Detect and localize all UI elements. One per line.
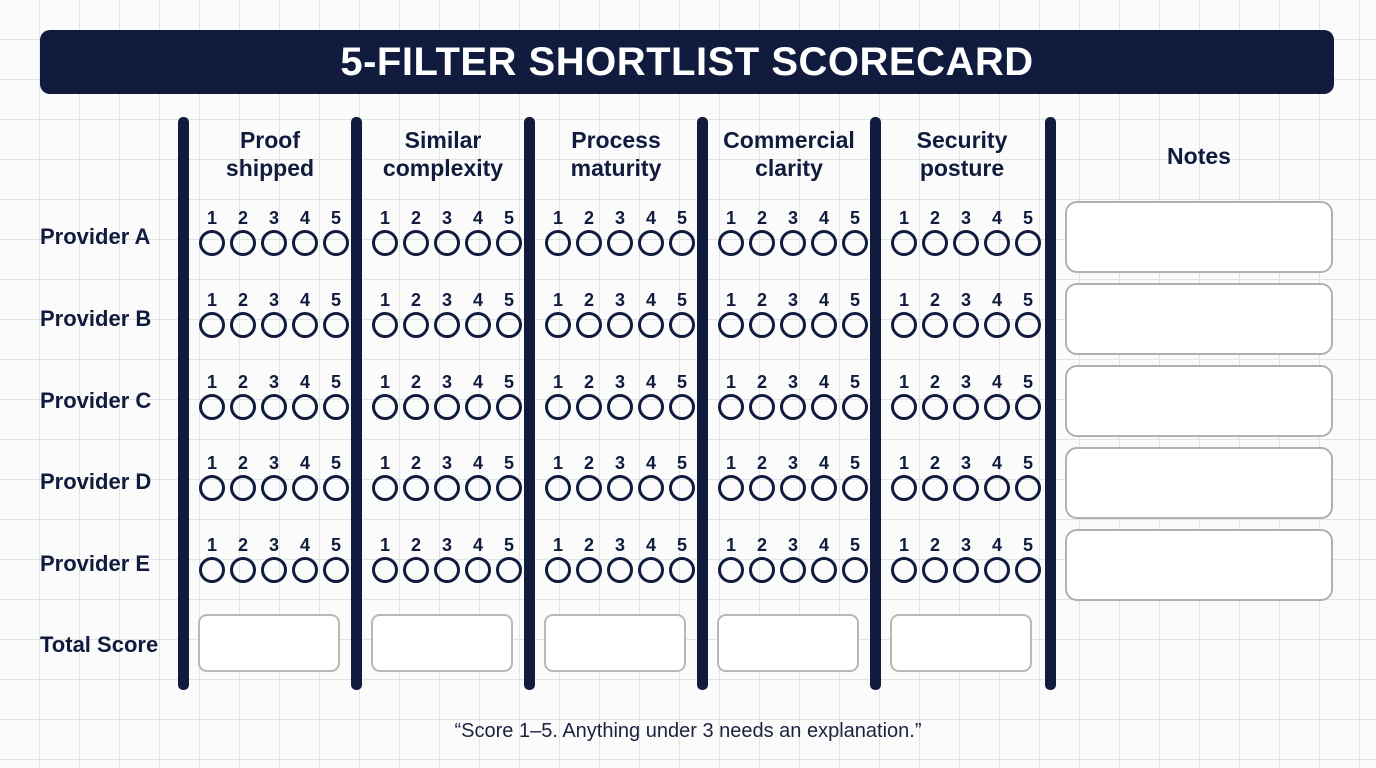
score-bubble-provider-a-proof-shipped-2[interactable] [230,230,256,256]
footer-caption: “Score 1–5. Anything under 3 needs an ex… [0,720,1376,743]
score-bubble-provider-e-similar-complexity-1[interactable] [372,557,398,583]
score-bubble-provider-c-commercial-clarity-1[interactable] [718,394,744,420]
scale-number-5: 5 [323,290,349,310]
scale-number-2: 2 [922,453,948,473]
score-scale-provider-b-proof-shipped: 12345 [199,290,349,340]
scale-number-3: 3 [953,535,979,555]
score-bubble-provider-e-process-maturity-5[interactable] [669,557,695,583]
score-bubble-provider-d-proof-shipped-2[interactable] [230,475,256,501]
score-bubble-provider-d-proof-shipped-1[interactable] [199,475,225,501]
scale-number-1: 1 [545,453,571,473]
scale-number-4: 4 [292,535,318,555]
score-bubble-provider-a-similar-complexity-4[interactable] [465,230,491,256]
scale-bubbles [718,312,868,338]
score-bubble-provider-c-security-posture-1[interactable] [891,394,917,420]
score-bubble-provider-b-security-posture-5[interactable] [1015,312,1041,338]
scale-bubbles [718,230,868,256]
score-bubble-provider-d-proof-shipped-3[interactable] [261,475,287,501]
scale-number-5: 5 [842,453,868,473]
scale-numbers: 12345 [372,453,522,473]
scale-number-3: 3 [434,535,460,555]
score-bubble-provider-c-process-maturity-3[interactable] [607,394,633,420]
score-bubble-provider-b-similar-complexity-1[interactable] [372,312,398,338]
scale-number-4: 4 [984,535,1010,555]
score-bubble-provider-a-security-posture-3[interactable] [953,230,979,256]
score-bubble-provider-a-security-posture-4[interactable] [984,230,1010,256]
score-bubble-provider-b-commercial-clarity-4[interactable] [811,312,837,338]
score-scale-provider-a-proof-shipped: 12345 [199,208,349,258]
score-bubble-provider-d-similar-complexity-3[interactable] [434,475,460,501]
scale-number-1: 1 [199,290,225,310]
score-scale-provider-a-process-maturity: 12345 [545,208,695,258]
scale-number-5: 5 [842,372,868,392]
scale-number-1: 1 [199,208,225,228]
total-score-input-security-posture[interactable] [890,614,1032,672]
scale-numbers: 12345 [199,290,349,310]
score-bubble-provider-c-similar-complexity-2[interactable] [403,394,429,420]
score-bubble-provider-d-commercial-clarity-3[interactable] [780,475,806,501]
score-bubble-provider-c-process-maturity-2[interactable] [576,394,602,420]
score-bubble-provider-b-commercial-clarity-5[interactable] [842,312,868,338]
score-bubble-provider-c-process-maturity-5[interactable] [669,394,695,420]
scale-number-5: 5 [842,208,868,228]
column-header-notes: Notes [1115,142,1283,170]
scale-number-1: 1 [891,290,917,310]
score-bubble-provider-c-similar-complexity-5[interactable] [496,394,522,420]
scale-number-5: 5 [1015,372,1041,392]
scale-bubbles [372,230,522,256]
score-bubble-provider-b-security-posture-2[interactable] [922,312,948,338]
score-scale-provider-c-security-posture: 12345 [891,372,1041,422]
score-scale-provider-d-similar-complexity: 12345 [372,453,522,503]
score-bubble-provider-e-proof-shipped-1[interactable] [199,557,225,583]
column-header-similar-complexity: Similar complexity [359,126,527,182]
column-header-line2: clarity [705,154,873,182]
score-scale-provider-d-commercial-clarity: 12345 [718,453,868,503]
score-bubble-provider-a-similar-complexity-2[interactable] [403,230,429,256]
score-bubble-provider-e-process-maturity-1[interactable] [545,557,571,583]
score-bubble-provider-a-proof-shipped-1[interactable] [199,230,225,256]
score-bubble-provider-b-security-posture-4[interactable] [984,312,1010,338]
scale-numbers: 12345 [199,372,349,392]
scale-number-4: 4 [465,535,491,555]
score-bubble-provider-e-commercial-clarity-5[interactable] [842,557,868,583]
score-bubble-provider-c-proof-shipped-2[interactable] [230,394,256,420]
scale-number-1: 1 [372,453,398,473]
scale-number-1: 1 [545,208,571,228]
score-bubble-provider-e-security-posture-4[interactable] [984,557,1010,583]
score-bubble-provider-d-commercial-clarity-5[interactable] [842,475,868,501]
scale-numbers: 12345 [372,208,522,228]
score-bubble-provider-a-proof-shipped-4[interactable] [292,230,318,256]
score-bubble-provider-e-similar-complexity-5[interactable] [496,557,522,583]
score-bubble-provider-e-process-maturity-3[interactable] [607,557,633,583]
scale-number-3: 3 [261,290,287,310]
scale-bubbles [372,557,522,583]
score-bubble-provider-c-commercial-clarity-2[interactable] [749,394,775,420]
score-bubble-provider-b-proof-shipped-2[interactable] [230,312,256,338]
score-bubble-provider-b-proof-shipped-1[interactable] [199,312,225,338]
scale-number-5: 5 [323,372,349,392]
scale-number-2: 2 [403,535,429,555]
score-bubble-provider-a-proof-shipped-5[interactable] [323,230,349,256]
row-label-provider-b: Provider B [40,306,180,332]
score-bubble-provider-a-commercial-clarity-3[interactable] [780,230,806,256]
score-bubble-provider-b-process-maturity-1[interactable] [545,312,571,338]
scale-number-4: 4 [811,208,837,228]
score-bubble-provider-b-process-maturity-2[interactable] [576,312,602,338]
score-bubble-provider-b-security-posture-1[interactable] [891,312,917,338]
column-header-line1: Security [878,126,1046,154]
scale-numbers: 12345 [372,535,522,555]
score-bubble-provider-c-proof-shipped-1[interactable] [199,394,225,420]
scale-bubbles [199,230,349,256]
scale-numbers: 12345 [891,453,1041,473]
score-bubble-provider-d-process-maturity-5[interactable] [669,475,695,501]
score-bubble-provider-e-process-maturity-4[interactable] [638,557,664,583]
scale-number-5: 5 [496,453,522,473]
score-bubble-provider-e-security-posture-2[interactable] [922,557,948,583]
score-bubble-provider-a-similar-complexity-5[interactable] [496,230,522,256]
score-bubble-provider-b-similar-complexity-2[interactable] [403,312,429,338]
score-bubble-provider-c-security-posture-4[interactable] [984,394,1010,420]
total-score-input-similar-complexity[interactable] [371,614,513,672]
score-bubble-provider-d-security-posture-1[interactable] [891,475,917,501]
score-bubble-provider-b-process-maturity-4[interactable] [638,312,664,338]
scale-number-3: 3 [953,453,979,473]
scale-number-2: 2 [749,453,775,473]
score-bubble-provider-a-security-posture-1[interactable] [891,230,917,256]
score-bubble-provider-e-security-posture-1[interactable] [891,557,917,583]
scale-number-4: 4 [984,208,1010,228]
score-bubble-provider-c-process-maturity-4[interactable] [638,394,664,420]
scale-number-5: 5 [669,535,695,555]
scale-number-2: 2 [576,208,602,228]
score-bubble-provider-b-commercial-clarity-2[interactable] [749,312,775,338]
score-bubble-provider-d-security-posture-3[interactable] [953,475,979,501]
scale-number-2: 2 [576,290,602,310]
scale-number-2: 2 [576,453,602,473]
score-scale-provider-a-similar-complexity: 12345 [372,208,522,258]
score-bubble-provider-d-security-posture-5[interactable] [1015,475,1041,501]
column-header-line1: Process [532,126,700,154]
score-scale-provider-c-process-maturity: 12345 [545,372,695,422]
score-bubble-provider-e-proof-shipped-4[interactable] [292,557,318,583]
score-bubble-provider-b-process-maturity-5[interactable] [669,312,695,338]
score-bubble-provider-c-similar-complexity-1[interactable] [372,394,398,420]
score-bubble-provider-c-proof-shipped-4[interactable] [292,394,318,420]
score-bubble-provider-d-similar-complexity-4[interactable] [465,475,491,501]
scale-number-3: 3 [434,290,460,310]
score-bubble-provider-e-proof-shipped-2[interactable] [230,557,256,583]
score-scale-provider-e-security-posture: 12345 [891,535,1041,585]
score-bubble-provider-d-similar-complexity-1[interactable] [372,475,398,501]
score-bubble-provider-e-security-posture-3[interactable] [953,557,979,583]
scale-number-2: 2 [922,290,948,310]
score-bubble-provider-d-security-posture-4[interactable] [984,475,1010,501]
score-bubble-provider-b-commercial-clarity-3[interactable] [780,312,806,338]
row-label-provider-c: Provider C [40,388,180,414]
scale-number-3: 3 [261,453,287,473]
scale-number-3: 3 [607,290,633,310]
scale-bubbles [718,475,868,501]
scale-number-2: 2 [922,372,948,392]
score-scale-provider-b-similar-complexity: 12345 [372,290,522,340]
scale-number-5: 5 [496,372,522,392]
score-bubble-provider-c-security-posture-2[interactable] [922,394,948,420]
scale-number-3: 3 [434,372,460,392]
score-scale-provider-d-process-maturity: 12345 [545,453,695,503]
scale-bubbles [372,394,522,420]
scale-numbers: 12345 [199,208,349,228]
scale-number-1: 1 [718,208,744,228]
column-divider-5 [870,117,881,690]
scale-numbers: 12345 [199,453,349,473]
scale-number-3: 3 [434,453,460,473]
column-header-line1: Similar [359,126,527,154]
scale-bubbles [372,475,522,501]
scale-bubbles [199,557,349,583]
row-label-total-score: Total Score [40,632,180,658]
scale-numbers: 12345 [718,208,868,228]
scale-number-5: 5 [323,208,349,228]
scale-number-2: 2 [230,208,256,228]
scale-number-3: 3 [780,453,806,473]
scale-numbers: 12345 [891,372,1041,392]
score-bubble-provider-d-commercial-clarity-2[interactable] [749,475,775,501]
scale-number-1: 1 [545,290,571,310]
score-bubble-provider-a-process-maturity-3[interactable] [607,230,633,256]
scale-numbers: 12345 [891,290,1041,310]
score-bubble-provider-c-commercial-clarity-5[interactable] [842,394,868,420]
scale-numbers: 12345 [718,535,868,555]
scale-number-1: 1 [199,535,225,555]
score-bubble-provider-a-proof-shipped-3[interactable] [261,230,287,256]
score-bubble-provider-e-similar-complexity-4[interactable] [465,557,491,583]
scale-number-4: 4 [638,290,664,310]
score-bubble-provider-e-commercial-clarity-3[interactable] [780,557,806,583]
score-bubble-provider-e-process-maturity-2[interactable] [576,557,602,583]
scale-bubbles [718,557,868,583]
score-bubble-provider-c-security-posture-5[interactable] [1015,394,1041,420]
scale-number-3: 3 [607,372,633,392]
scale-number-2: 2 [403,372,429,392]
score-bubble-provider-e-proof-shipped-3[interactable] [261,557,287,583]
score-scale-provider-e-process-maturity: 12345 [545,535,695,585]
scale-number-1: 1 [372,208,398,228]
score-bubble-provider-c-proof-shipped-5[interactable] [323,394,349,420]
scale-number-4: 4 [292,453,318,473]
score-scale-provider-e-proof-shipped: 12345 [199,535,349,585]
score-bubble-provider-c-commercial-clarity-3[interactable] [780,394,806,420]
scale-number-4: 4 [638,208,664,228]
total-score-input-commercial-clarity[interactable] [717,614,859,672]
scale-number-5: 5 [669,372,695,392]
score-bubble-provider-b-similar-complexity-4[interactable] [465,312,491,338]
scale-number-5: 5 [496,290,522,310]
scale-number-1: 1 [718,453,744,473]
score-bubble-provider-d-commercial-clarity-1[interactable] [718,475,744,501]
score-bubble-provider-a-similar-complexity-1[interactable] [372,230,398,256]
scale-number-2: 2 [749,208,775,228]
scale-number-2: 2 [230,453,256,473]
page-title-bar: 5-FILTER SHORTLIST SCORECARD [40,30,1334,94]
score-bubble-provider-b-proof-shipped-4[interactable] [292,312,318,338]
scale-number-4: 4 [811,535,837,555]
score-scale-provider-c-similar-complexity: 12345 [372,372,522,422]
score-scale-provider-a-commercial-clarity: 12345 [718,208,868,258]
total-score-input-proof-shipped[interactable] [198,614,340,672]
notes-input-provider-c[interactable] [1065,365,1333,437]
score-scale-provider-b-process-maturity: 12345 [545,290,695,340]
score-bubble-provider-d-similar-complexity-2[interactable] [403,475,429,501]
score-bubble-provider-a-commercial-clarity-1[interactable] [718,230,744,256]
scale-number-4: 4 [638,372,664,392]
scale-number-1: 1 [199,453,225,473]
scale-number-3: 3 [261,535,287,555]
scale-number-5: 5 [1015,453,1041,473]
scale-number-1: 1 [891,208,917,228]
score-bubble-provider-e-commercial-clarity-4[interactable] [811,557,837,583]
scale-number-5: 5 [842,535,868,555]
scale-number-3: 3 [780,290,806,310]
score-bubble-provider-c-process-maturity-1[interactable] [545,394,571,420]
score-bubble-provider-d-process-maturity-2[interactable] [576,475,602,501]
score-bubble-provider-a-commercial-clarity-4[interactable] [811,230,837,256]
column-header-line2: posture [878,154,1046,182]
score-bubble-provider-c-similar-complexity-4[interactable] [465,394,491,420]
scale-number-3: 3 [780,208,806,228]
score-bubble-provider-b-commercial-clarity-1[interactable] [718,312,744,338]
scale-number-5: 5 [842,290,868,310]
scale-bubbles [891,230,1041,256]
scale-numbers: 12345 [372,372,522,392]
column-divider-3 [524,117,535,690]
scale-number-5: 5 [1015,290,1041,310]
scale-number-4: 4 [292,290,318,310]
scale-number-1: 1 [891,453,917,473]
score-scale-provider-c-commercial-clarity: 12345 [718,372,868,422]
score-bubble-provider-e-commercial-clarity-2[interactable] [749,557,775,583]
scale-numbers: 12345 [545,290,695,310]
scale-number-3: 3 [780,372,806,392]
score-bubble-provider-b-process-maturity-3[interactable] [607,312,633,338]
score-bubble-provider-b-similar-complexity-3[interactable] [434,312,460,338]
score-bubble-provider-b-security-posture-3[interactable] [953,312,979,338]
scale-numbers: 12345 [372,290,522,310]
scale-number-2: 2 [230,290,256,310]
score-bubble-provider-d-proof-shipped-4[interactable] [292,475,318,501]
score-bubble-provider-d-similar-complexity-5[interactable] [496,475,522,501]
notes-input-provider-e[interactable] [1065,529,1333,601]
page-title: 5-FILTER SHORTLIST SCORECARD [340,42,1033,82]
score-bubble-provider-a-process-maturity-4[interactable] [638,230,664,256]
scale-number-4: 4 [811,372,837,392]
score-bubble-provider-b-similar-complexity-5[interactable] [496,312,522,338]
score-bubble-provider-a-security-posture-5[interactable] [1015,230,1041,256]
score-bubble-provider-d-security-posture-2[interactable] [922,475,948,501]
scale-number-3: 3 [434,208,460,228]
column-header-line1: Proof [186,126,354,154]
scale-number-1: 1 [545,372,571,392]
column-header-line2: shipped [186,154,354,182]
score-bubble-provider-c-similar-complexity-3[interactable] [434,394,460,420]
scale-number-2: 2 [749,372,775,392]
scale-bubbles [891,394,1041,420]
scale-bubbles [545,557,695,583]
scale-numbers: 12345 [545,208,695,228]
scale-number-5: 5 [669,290,695,310]
score-bubble-provider-c-security-posture-3[interactable] [953,394,979,420]
scale-bubbles [891,475,1041,501]
score-bubble-provider-d-commercial-clarity-4[interactable] [811,475,837,501]
score-bubble-provider-e-similar-complexity-2[interactable] [403,557,429,583]
scorecard-board: 5-FILTER SHORTLIST SCORECARD Proof shipp… [0,0,1376,768]
notes-input-provider-b[interactable] [1065,283,1333,355]
total-score-input-process-maturity[interactable] [544,614,686,672]
score-bubble-provider-a-commercial-clarity-2[interactable] [749,230,775,256]
score-bubble-provider-d-process-maturity-4[interactable] [638,475,664,501]
score-bubble-provider-e-commercial-clarity-1[interactable] [718,557,744,583]
scale-number-1: 1 [718,535,744,555]
scale-numbers: 12345 [718,372,868,392]
score-bubble-provider-c-proof-shipped-3[interactable] [261,394,287,420]
column-header-security-posture: Security posture [878,126,1046,182]
notes-input-provider-a[interactable] [1065,201,1333,273]
score-scale-provider-b-security-posture: 12345 [891,290,1041,340]
scale-number-3: 3 [953,208,979,228]
scale-number-2: 2 [749,535,775,555]
scale-number-5: 5 [496,535,522,555]
score-bubble-provider-a-process-maturity-1[interactable] [545,230,571,256]
score-bubble-provider-e-proof-shipped-5[interactable] [323,557,349,583]
column-divider-4 [697,117,708,690]
scale-number-5: 5 [669,453,695,473]
score-bubble-provider-d-process-maturity-1[interactable] [545,475,571,501]
score-bubble-provider-a-process-maturity-2[interactable] [576,230,602,256]
scale-number-5: 5 [496,208,522,228]
score-bubble-provider-c-commercial-clarity-4[interactable] [811,394,837,420]
score-bubble-provider-e-similar-complexity-3[interactable] [434,557,460,583]
scale-number-1: 1 [718,290,744,310]
scale-numbers: 12345 [891,208,1041,228]
score-bubble-provider-a-commercial-clarity-5[interactable] [842,230,868,256]
score-scale-provider-a-security-posture: 12345 [891,208,1041,258]
scale-number-3: 3 [607,535,633,555]
scale-number-1: 1 [891,372,917,392]
score-bubble-provider-d-proof-shipped-5[interactable] [323,475,349,501]
scale-numbers: 12345 [891,535,1041,555]
column-header-commercial-clarity: Commercial clarity [705,126,873,182]
scale-bubbles [718,394,868,420]
score-bubble-provider-a-security-posture-2[interactable] [922,230,948,256]
scale-number-4: 4 [292,208,318,228]
scale-number-4: 4 [465,372,491,392]
column-header-line2: complexity [359,154,527,182]
score-bubble-provider-e-security-posture-5[interactable] [1015,557,1041,583]
score-bubble-provider-b-proof-shipped-3[interactable] [261,312,287,338]
score-bubble-provider-d-process-maturity-3[interactable] [607,475,633,501]
score-bubble-provider-b-proof-shipped-5[interactable] [323,312,349,338]
score-bubble-provider-a-similar-complexity-3[interactable] [434,230,460,256]
scale-number-4: 4 [811,453,837,473]
score-bubble-provider-a-process-maturity-5[interactable] [669,230,695,256]
notes-input-provider-d[interactable] [1065,447,1333,519]
scale-number-4: 4 [984,453,1010,473]
score-scale-provider-d-security-posture: 12345 [891,453,1041,503]
scale-bubbles [545,394,695,420]
scale-number-1: 1 [718,372,744,392]
